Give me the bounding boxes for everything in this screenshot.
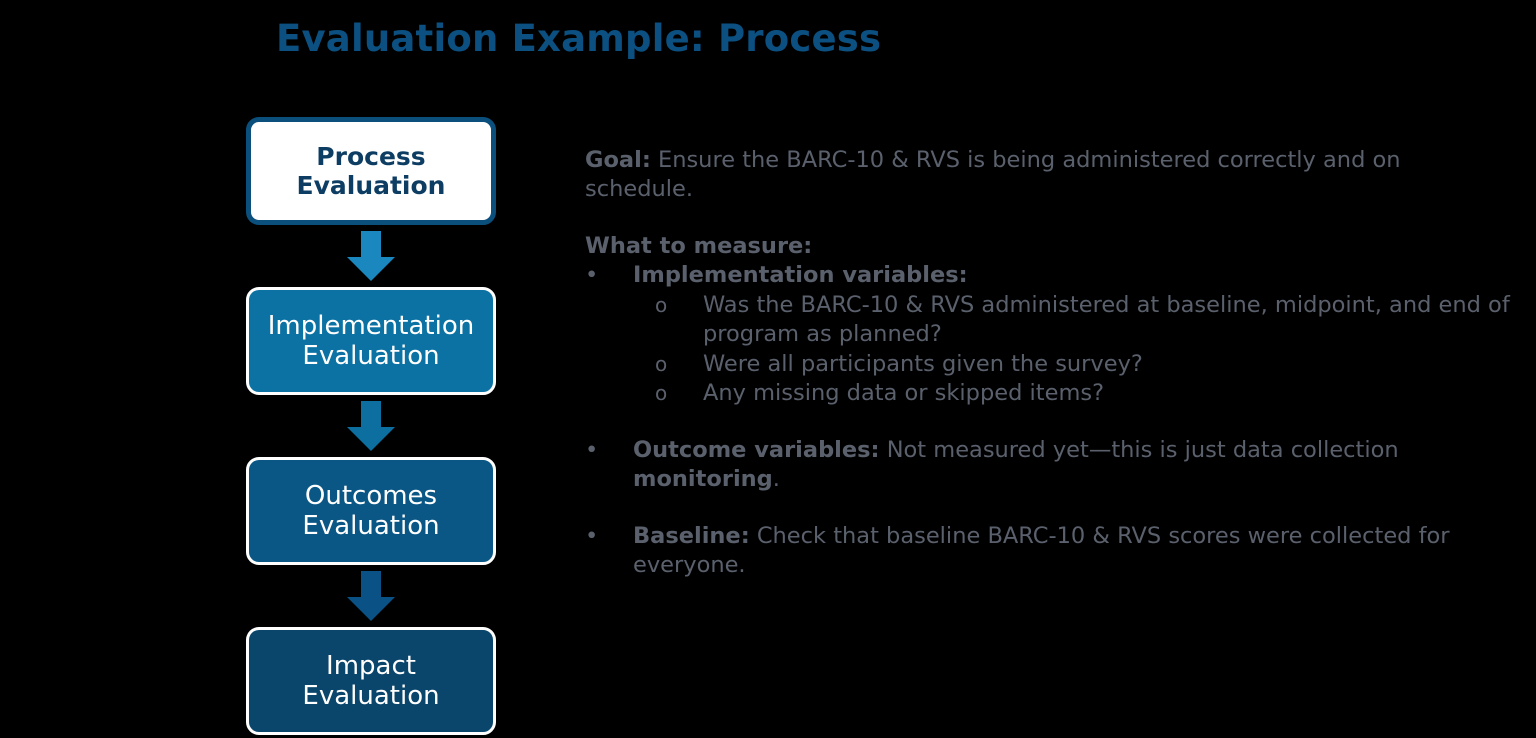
page-title: Evaluation Example: Process	[276, 17, 881, 60]
goal-text: Ensure the BARC-10 & RVS is being admini…	[585, 147, 1401, 202]
flow-arrow-2	[246, 395, 496, 457]
flow-box-implementation-label: Implementation Evaluation	[260, 311, 482, 371]
bullet-outcome-variables-text: Not measured yet—this is just data colle…	[880, 437, 1399, 463]
process-evaluation-details: Goal: Ensure the BARC-10 & RVS is being …	[585, 146, 1515, 581]
flow-arrow-3	[246, 565, 496, 627]
goal-label: Goal:	[585, 147, 651, 173]
flow-box-process: Process Evaluation	[246, 117, 496, 225]
bullet-baseline-label: Baseline:	[633, 523, 750, 549]
sub-bullet-all-participants-text: Were all participants given the survey?	[703, 351, 1143, 377]
bullet-baseline-text: Check that baseline BARC-10 & RVS scores…	[633, 523, 1450, 578]
flow-arrow-1	[246, 225, 496, 287]
what-to-measure-heading-label: What to measure:	[585, 233, 812, 259]
sub-bullet-missing-data: oAny missing data or skipped items?	[585, 379, 1515, 408]
bullet-outcome-variables: •Outcome variables: Not measured yet—thi…	[585, 436, 1515, 495]
sub-bullet-administered-timing-text: Was the BARC-10 & RVS administered at ba…	[703, 292, 1510, 347]
sub-bullet-marker: o	[655, 379, 679, 408]
bullet-baseline: •Baseline: Check that baseline BARC-10 &…	[585, 522, 1515, 581]
flow-box-process-label: Process Evaluation	[289, 142, 454, 200]
bullet-marker: •	[585, 522, 607, 551]
bullet-outcome-variables-label: Outcome variables:	[633, 437, 880, 463]
down-arrow-icon	[344, 399, 398, 453]
sub-bullet-missing-data-text: Any missing data or skipped items?	[703, 380, 1104, 406]
flow-box-impact-label: Impact Evaluation	[294, 651, 447, 711]
sub-bullet-marker: o	[655, 350, 679, 379]
bullet-outcome-variables-tail: .	[773, 466, 780, 492]
spacer	[585, 205, 1515, 232]
flow-box-impact: Impact Evaluation	[246, 627, 496, 735]
spacer	[585, 409, 1515, 436]
bullet-marker: •	[585, 436, 607, 465]
bullet-marker: •	[585, 261, 607, 290]
sub-bullet-all-participants: oWere all participants given the survey?	[585, 350, 1515, 379]
sub-bullet-marker: o	[655, 291, 679, 320]
sub-bullet-administered-timing: oWas the BARC-10 & RVS administered at b…	[585, 291, 1515, 350]
flow-box-implementation: Implementation Evaluation	[246, 287, 496, 395]
evaluation-flow-chart: Process Evaluation Implementation Evalua…	[246, 117, 498, 735]
down-arrow-icon	[344, 569, 398, 623]
bullet-implementation-variables: •Implementation variables:	[585, 261, 1515, 290]
down-arrow-icon	[344, 229, 398, 283]
bullet-outcome-variables-emphasis: monitoring	[633, 466, 773, 492]
flow-box-outcomes: Outcomes Evaluation	[246, 457, 496, 565]
spacer	[585, 495, 1515, 522]
goal-paragraph: Goal: Ensure the BARC-10 & RVS is being …	[585, 146, 1515, 205]
flow-box-outcomes-label: Outcomes Evaluation	[294, 481, 447, 541]
what-to-measure-heading: What to measure:	[585, 232, 1515, 261]
bullet-implementation-variables-label: Implementation variables:	[633, 262, 968, 288]
